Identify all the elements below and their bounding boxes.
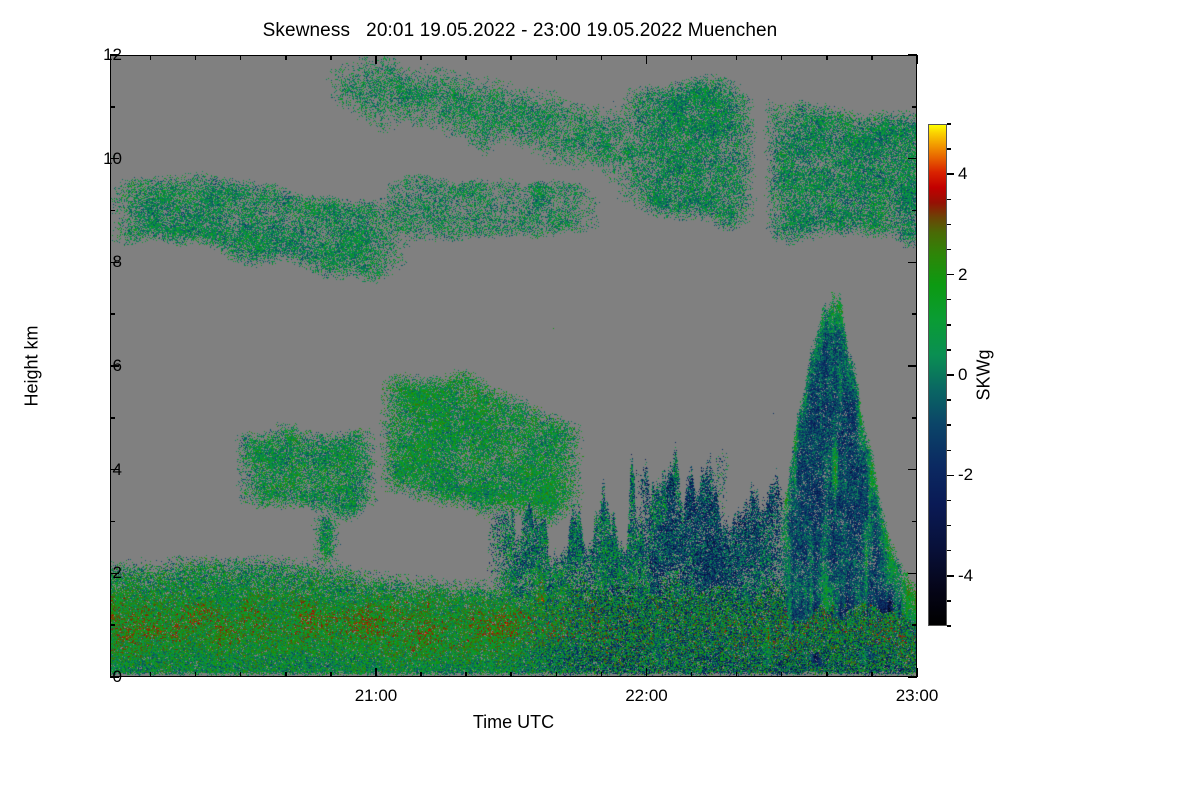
colorbar-tick-minor [947, 123, 951, 125]
x-tick-minor-top [691, 55, 693, 60]
colorbar-tick-major [947, 575, 954, 577]
skewness-heatmap [110, 55, 917, 677]
colorbar-tick-major [947, 274, 954, 276]
x-tick-minor-top [420, 55, 422, 60]
colorbar [928, 124, 947, 626]
colorbar-tick-minor [947, 249, 951, 251]
y-tick-minor [110, 521, 115, 523]
y-tick-minor-right [912, 624, 917, 626]
x-tick-major-top [916, 55, 918, 64]
x-tick-minor-top [330, 55, 332, 60]
colorbar-tick-major [947, 475, 954, 477]
x-tick-label: 23:00 [896, 686, 939, 706]
x-tick-minor [285, 672, 287, 677]
colorbar-tick-label: 0 [958, 365, 967, 385]
x-tick-major [646, 668, 648, 677]
x-tick-minor [240, 672, 242, 677]
y-tick-minor-right [912, 210, 917, 212]
y-tick-minor [110, 624, 115, 626]
x-tick-major-top [646, 55, 648, 64]
x-tick-minor [691, 672, 693, 677]
x-tick-minor [556, 672, 558, 677]
x-tick-minor-top [871, 55, 873, 60]
y-tick-label: 4 [113, 460, 122, 480]
colorbar-tick-minor [947, 399, 951, 401]
y-tick-label: 12 [103, 45, 122, 65]
x-tick-minor-top [556, 55, 558, 60]
colorbar-tick-minor [947, 525, 951, 527]
y-tick-major-right [908, 365, 917, 367]
x-tick-minor [465, 672, 467, 677]
x-tick-major [916, 668, 918, 677]
y-tick-minor-right [912, 521, 917, 523]
colorbar-tick-minor [947, 424, 951, 426]
colorbar-tick-label: 2 [958, 265, 967, 285]
y-tick-label: 0 [113, 667, 122, 687]
x-tick-label: 22:00 [625, 686, 668, 706]
x-tick-minor [195, 672, 197, 677]
x-tick-minor-top [510, 55, 512, 60]
colorbar-tick-minor [947, 600, 951, 602]
x-tick-minor [601, 672, 603, 677]
x-tick-major [375, 668, 377, 677]
x-tick-minor [330, 672, 332, 677]
x-tick-minor-top [736, 55, 738, 60]
y-tick-minor [110, 210, 115, 212]
x-axis-title: Time UTC [110, 712, 917, 733]
colorbar-tick-minor [947, 450, 951, 452]
y-tick-minor-right [912, 106, 917, 108]
x-tick-major-top [375, 55, 377, 64]
x-tick-minor-top [601, 55, 603, 60]
colorbar-tick-minor [947, 500, 951, 502]
x-tick-minor-top [465, 55, 467, 60]
y-tick-minor [110, 417, 115, 419]
colorbar-title: SKWg [974, 349, 995, 400]
y-tick-minor-right [912, 313, 917, 315]
x-tick-minor [871, 672, 873, 677]
x-tick-minor [510, 672, 512, 677]
x-tick-minor-top [195, 55, 197, 60]
colorbar-tick-minor [947, 224, 951, 226]
x-tick-minor [826, 672, 828, 677]
x-tick-minor-top [781, 55, 783, 60]
colorbar-tick-major [947, 374, 954, 376]
y-tick-major-right [908, 158, 917, 160]
x-tick-minor [736, 672, 738, 677]
heatmap-plot-area [110, 55, 917, 677]
figure-canvas: Skewness 20:01 19.05.2022 - 23:00 19.05.… [0, 0, 1200, 800]
y-axis-title: Height km [22, 325, 43, 406]
colorbar-tick-major [947, 173, 954, 175]
x-tick-label: 21:00 [355, 686, 398, 706]
y-tick-major-right [908, 262, 917, 264]
y-tick-label: 10 [103, 149, 122, 169]
x-tick-minor-top [826, 55, 828, 60]
y-tick-label: 6 [113, 356, 122, 376]
colorbar-tick-minor [947, 148, 951, 150]
y-tick-major-right [908, 469, 917, 471]
colorbar-tick-minor [947, 349, 951, 351]
colorbar-tick-label: -2 [958, 465, 973, 485]
x-tick-minor [420, 672, 422, 677]
y-tick-major-right [908, 573, 917, 575]
colorbar-tick-minor [947, 625, 951, 627]
colorbar-tick-label: -4 [958, 566, 973, 586]
y-tick-minor-right [912, 417, 917, 419]
x-tick-minor [781, 672, 783, 677]
colorbar-tick-label: 4 [958, 164, 967, 184]
x-tick-minor-top [285, 55, 287, 60]
x-tick-minor [150, 672, 152, 677]
colorbar-tick-minor [947, 199, 951, 201]
y-tick-label: 8 [113, 252, 122, 272]
page-title: Skewness 20:01 19.05.2022 - 23:00 19.05.… [0, 20, 1040, 42]
x-tick-minor-top [150, 55, 152, 60]
y-tick-minor [110, 106, 115, 108]
colorbar-tick-minor [947, 324, 951, 326]
colorbar-tick-minor [947, 299, 951, 301]
y-tick-label: 2 [113, 563, 122, 583]
y-tick-minor [110, 313, 115, 315]
colorbar-tick-minor [947, 550, 951, 552]
x-tick-minor-top [240, 55, 242, 60]
colorbar-gradient [928, 124, 947, 626]
